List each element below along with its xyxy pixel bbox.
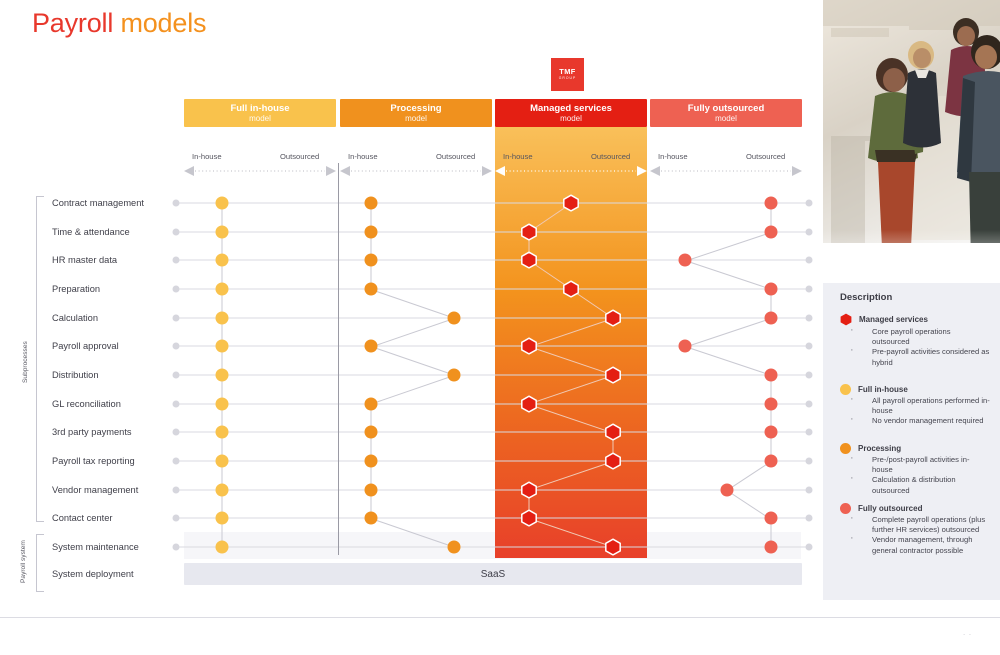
- row-endcap-left: [173, 200, 180, 207]
- data-point-3-9[interactable]: [764, 454, 777, 467]
- column-header-managed-services[interactable]: Managed servicesmodel: [495, 99, 647, 127]
- legend-label: Managed services: [859, 313, 928, 325]
- row-endcap-left: [173, 543, 180, 550]
- data-point-1-8[interactable]: [365, 426, 378, 439]
- data-point-1-4[interactable]: [448, 311, 461, 324]
- connector-line: [371, 318, 455, 348]
- legend-bullet: Pre-payroll activities considered as hyb…: [840, 347, 990, 367]
- data-point-1-5[interactable]: [365, 340, 378, 353]
- row-endcap-left: [173, 228, 180, 235]
- data-point-3-1[interactable]: [764, 225, 777, 238]
- row-label-payroll-approval: Payroll approval: [52, 341, 119, 351]
- column-header-subtitle: model: [560, 114, 582, 124]
- data-point-3-2[interactable]: [679, 254, 692, 267]
- row-endcap-right: [806, 457, 813, 464]
- row-label-payroll-tax-reporting: Payroll tax reporting: [52, 456, 135, 466]
- data-point-0-9[interactable]: [215, 454, 228, 467]
- data-point-3-0[interactable]: [764, 197, 777, 210]
- row-endcap-right: [806, 228, 813, 235]
- row-endcap-left: [173, 486, 180, 493]
- legend-label: Full in-house: [858, 383, 908, 395]
- legend-bullet: Calculation & distribution outsourced: [840, 475, 990, 495]
- column-divider: [338, 163, 339, 555]
- column-header-title: Full in-house: [230, 103, 289, 114]
- row-endcap-right: [806, 515, 813, 522]
- data-point-2-9[interactable]: [605, 452, 621, 469]
- row-endcap-right: [806, 429, 813, 436]
- column-header-title: Fully outsourced: [688, 103, 765, 114]
- row-endcap-right: [806, 285, 813, 292]
- row-gridline: [176, 346, 809, 347]
- data-point-0-4[interactable]: [215, 311, 228, 324]
- legend-bullet: Core payroll operations outsourced: [840, 327, 990, 347]
- data-point-0-11[interactable]: [215, 512, 228, 525]
- row-endcap-left: [173, 285, 180, 292]
- row-label-calculation: Calculation: [52, 313, 98, 323]
- axis-arrow: [495, 165, 647, 177]
- data-point-3-10[interactable]: [721, 483, 734, 496]
- description-panel: Description Managed services Core payrol…: [823, 283, 1000, 600]
- data-point-0-7[interactable]: [215, 397, 228, 410]
- highlight-band-2: [495, 127, 647, 558]
- data-point-1-6[interactable]: [448, 368, 461, 381]
- data-point-1-10[interactable]: [365, 483, 378, 496]
- column-header-subtitle: model: [715, 114, 737, 124]
- data-point-0-6[interactable]: [215, 368, 228, 381]
- data-point-3-11[interactable]: [764, 512, 777, 525]
- bracket-payroll-system: [36, 534, 37, 592]
- row-label-3rd-party-payments: 3rd party payments: [52, 427, 132, 437]
- row-gridline: [176, 374, 809, 375]
- axis-label-outsourced: Outsourced: [280, 152, 319, 161]
- data-point-1-12[interactable]: [448, 540, 461, 553]
- data-point-2-6[interactable]: [605, 366, 621, 383]
- axis-label-outsourced: Outsourced: [746, 152, 785, 161]
- legend-bullet: Complete payroll operations (plus furthe…: [840, 515, 990, 535]
- column-header-processing[interactable]: Processingmodel: [340, 99, 492, 127]
- data-point-1-11[interactable]: [365, 512, 378, 525]
- data-point-2-2[interactable]: [521, 252, 537, 269]
- row-label-distribution: Distribution: [52, 370, 99, 380]
- legend-bullet: Pre-/post-payroll activities in-house: [840, 455, 990, 475]
- row-endcap-right: [806, 486, 813, 493]
- row-endcap-right: [806, 400, 813, 407]
- axis-arrow: [184, 165, 336, 177]
- footer-divider: [0, 617, 1000, 618]
- row-label-contract-management: Contract management: [52, 198, 144, 208]
- connector-line: [371, 346, 455, 376]
- legend-label: Processing: [858, 442, 901, 454]
- data-point-2-1[interactable]: [521, 223, 537, 240]
- data-point-2-5[interactable]: [521, 338, 537, 355]
- row-label-contact-center: Contact center: [52, 513, 112, 523]
- legend-bullet: All payroll operations performed in-hous…: [840, 396, 990, 416]
- row-endcap-left: [173, 400, 180, 407]
- row-endcap-left: [173, 457, 180, 464]
- data-point-1-2[interactable]: [365, 254, 378, 267]
- row-label-hr-master-data: HR master data: [52, 255, 117, 265]
- row-gridline: [176, 403, 809, 404]
- connector-line: [685, 260, 771, 290]
- data-point-2-8[interactable]: [605, 424, 621, 441]
- row-label-time-attendance: Time & attendance: [52, 227, 130, 237]
- row-endcap-right: [806, 200, 813, 207]
- data-point-3-8[interactable]: [764, 426, 777, 439]
- legend-label: Fully outsourced: [858, 502, 922, 514]
- row-endcap-left: [173, 257, 180, 264]
- data-point-0-3[interactable]: [215, 282, 228, 295]
- connector-line: [685, 232, 771, 262]
- row-endcap-left: [173, 515, 180, 522]
- row-label-vendor-management: Vendor management: [52, 485, 138, 495]
- group-label-payroll-system: Payroll system: [20, 540, 30, 584]
- data-point-0-1[interactable]: [215, 225, 228, 238]
- data-point-2-11[interactable]: [521, 510, 537, 527]
- data-point-1-3[interactable]: [365, 282, 378, 295]
- legend-item-fully-outsourced: Fully outsourced Complete payroll operat…: [840, 502, 990, 556]
- data-point-0-8[interactable]: [215, 426, 228, 439]
- data-point-2-3[interactable]: [563, 280, 579, 297]
- saas-bar: SaaS: [184, 563, 802, 585]
- connector-line: [685, 318, 771, 348]
- data-point-2-4[interactable]: [605, 309, 621, 326]
- column-header-subtitle: model: [249, 114, 271, 124]
- row-gridline: [176, 518, 809, 519]
- data-point-3-12[interactable]: [764, 540, 777, 553]
- row-gridline: [176, 260, 809, 261]
- connector-line: [727, 461, 771, 490]
- slide-canvas: Payroll models TMF GROUP: [0, 0, 1000, 655]
- row-gridline: [176, 288, 809, 289]
- column-header-title: Processing: [390, 103, 441, 114]
- axis-arrow: [340, 165, 492, 177]
- row-label-preparation: Preparation: [52, 284, 100, 294]
- row-label-system-deployment: System deployment: [52, 569, 134, 579]
- data-point-3-4[interactable]: [764, 311, 777, 324]
- row-endcap-left: [173, 343, 180, 350]
- axis-label-in-house: In-house: [503, 152, 533, 161]
- column-header-full-in-house[interactable]: Full in-housemodel: [184, 99, 336, 127]
- axis-label-in-house: In-house: [348, 152, 378, 161]
- data-point-3-7[interactable]: [764, 397, 777, 410]
- data-point-1-7[interactable]: [365, 397, 378, 410]
- row-endcap-left: [173, 314, 180, 321]
- data-point-3-3[interactable]: [764, 282, 777, 295]
- data-point-2-0[interactable]: [563, 195, 579, 212]
- legend-item-full-in-house: Full in-house All payroll operations per…: [840, 383, 990, 427]
- legend-bullet: Vendor management, through general contr…: [840, 535, 990, 555]
- row-endcap-right: [806, 343, 813, 350]
- axis-label-outsourced: Outsourced: [436, 152, 475, 161]
- row-label-gl-reconciliation: GL reconciliation: [52, 399, 121, 409]
- row-gridline: [176, 231, 809, 232]
- row-endcap-right: [806, 314, 813, 321]
- row-gridline: [176, 489, 809, 490]
- row-gridline: [176, 203, 809, 204]
- connector-line: [371, 289, 455, 319]
- office-people-photo: [823, 0, 1000, 283]
- data-point-2-10[interactable]: [521, 481, 537, 498]
- page-indicator: . .: [963, 630, 972, 637]
- row-gridline: [176, 432, 809, 433]
- data-point-0-2[interactable]: [215, 254, 228, 267]
- axis-label-in-house: In-house: [658, 152, 688, 161]
- axis-arrow: [650, 165, 802, 177]
- data-point-2-12[interactable]: [605, 538, 621, 555]
- data-point-0-12[interactable]: [215, 540, 228, 553]
- data-point-0-5[interactable]: [215, 340, 228, 353]
- legend-bullet: No vendor management required: [840, 416, 990, 426]
- legend-item-managed-services: Managed services Core payroll operations…: [840, 313, 990, 368]
- row-gridline: [176, 546, 809, 547]
- axis-label-in-house: In-house: [192, 152, 222, 161]
- column-header-title: Managed services: [530, 103, 612, 114]
- data-point-0-0[interactable]: [215, 197, 228, 210]
- group-label-subprocesses: Subprocesses: [22, 330, 30, 394]
- data-point-0-10[interactable]: [215, 483, 228, 496]
- data-point-3-6[interactable]: [764, 368, 777, 381]
- data-point-3-5[interactable]: [679, 340, 692, 353]
- connector-line: [371, 375, 455, 405]
- column-header-subtitle: model: [405, 114, 427, 124]
- row-gridline: [176, 317, 809, 318]
- row-gridline: [176, 460, 809, 461]
- row-endcap-left: [173, 371, 180, 378]
- description-heading: Description: [840, 292, 892, 303]
- legend-item-processing: Processing Pre-/post-payroll activities …: [840, 442, 990, 496]
- data-point-2-7[interactable]: [521, 395, 537, 412]
- axis-label-outsourced: Outsourced: [591, 152, 630, 161]
- row-endcap-right: [806, 257, 813, 264]
- bracket-subprocesses: [36, 196, 37, 522]
- row-endcap-left: [173, 429, 180, 436]
- data-point-1-0[interactable]: [365, 197, 378, 210]
- payroll-models-chart: Full in-housemodelIn-houseOutsourcedProc…: [0, 0, 823, 600]
- data-point-1-1[interactable]: [365, 225, 378, 238]
- row-label-system-maintenance: System maintenance: [52, 542, 139, 552]
- data-point-1-9[interactable]: [365, 454, 378, 467]
- column-header-fully-outsourced[interactable]: Fully outsourcedmodel: [650, 99, 802, 127]
- connector-line: [685, 346, 771, 376]
- row-endcap-right: [806, 371, 813, 378]
- row-endcap-right: [806, 543, 813, 550]
